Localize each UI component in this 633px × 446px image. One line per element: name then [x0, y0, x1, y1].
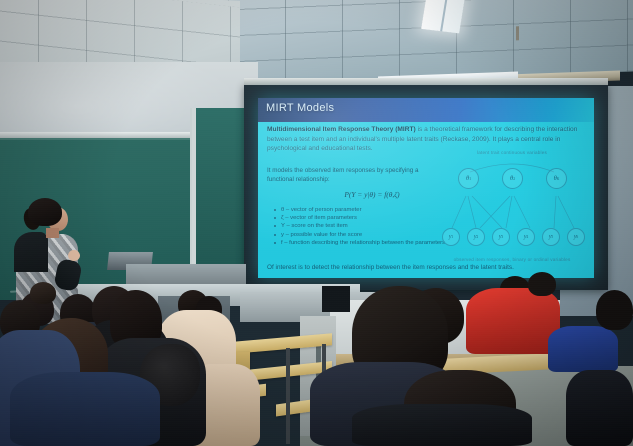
node-sub: 1 — [469, 177, 471, 181]
presenter-hand — [68, 250, 80, 261]
slide-footer-line: Of interest is to detect the relationshi… — [267, 264, 585, 271]
node-sub: K — [557, 177, 560, 181]
lecture-hall-photo: MIRT Models Multidimensional Item Respon… — [0, 0, 633, 446]
node-sub: 6 — [576, 235, 578, 239]
list-item: ζ – vector of item parameters — [274, 214, 454, 222]
observed-node-y6: y6 — [567, 228, 585, 246]
latent-node-theta-2: θ2 — [502, 168, 523, 189]
slide-formula: P(Y = y|θ) = f(θ,ζ) — [302, 190, 442, 199]
latent-node-theta-k: θK — [546, 168, 567, 189]
observed-node-y5: y5 — [542, 228, 560, 246]
observed-node-y1: y1 — [442, 228, 460, 246]
slide-bullet-list: θ – vector of person parameter ζ – vecto… — [274, 206, 454, 247]
projection-screen-frame: MIRT Models Multidimensional Item Respon… — [244, 84, 608, 290]
node-sub: 2 — [513, 177, 515, 181]
diagram-edges — [436, 150, 588, 262]
ceiling-lamp-2 — [421, 0, 465, 33]
node-sub: 5 — [551, 235, 553, 239]
node-sub: 3 — [501, 235, 503, 239]
list-item: θ – vector of person parameter — [274, 206, 454, 214]
lamp-divider — [440, 0, 448, 31]
presenter-hair — [28, 198, 62, 226]
list-item: Y – score on the test item — [274, 222, 454, 230]
audience-coat-blue-lower — [10, 372, 160, 446]
diagram-caption-bottom: observed item responses, binary or ordin… — [436, 257, 588, 262]
audience-head — [30, 282, 56, 304]
presenter-neck — [46, 228, 59, 238]
node-sub: 1 — [451, 235, 453, 239]
audience-coat-foreground-right — [352, 404, 532, 446]
desk-leg — [286, 348, 290, 444]
projection-screen: MIRT Models Multidimensional Item Respon… — [258, 98, 594, 278]
slide-paragraph-strong: Multidimensional Item Response Theory (M… — [267, 126, 416, 133]
observed-node-y2: y2 — [467, 228, 485, 246]
list-item: f – function describing the relationship… — [274, 239, 454, 247]
audience-coat-red — [466, 288, 560, 354]
node-sub: 2 — [476, 235, 478, 239]
ceiling-wire — [516, 26, 519, 40]
audience-coat-blue-right — [548, 326, 618, 372]
list-item: y – possible value for the score — [274, 231, 454, 239]
presentation-slide: MIRT Models Multidimensional Item Respon… — [258, 98, 594, 278]
latent-node-theta-1: θ1 — [458, 168, 479, 189]
node-sub: 4 — [526, 235, 528, 239]
observed-node-y4: y4 — [517, 228, 535, 246]
audience-coat-dark-right — [566, 370, 633, 446]
audience-head — [528, 272, 556, 296]
slide-lead-in: It models the observed item responses by… — [267, 167, 437, 184]
presenter-shoulder — [14, 232, 48, 272]
audience-head — [596, 290, 633, 330]
slide-body: Multidimensional Item Response Theory (M… — [258, 122, 594, 278]
slide-title: MIRT Models — [266, 102, 334, 114]
mirt-path-diagram: latent trait continuous variables — [436, 150, 588, 262]
equipment-box — [322, 286, 350, 312]
observed-node-y3: y3 — [492, 228, 510, 246]
